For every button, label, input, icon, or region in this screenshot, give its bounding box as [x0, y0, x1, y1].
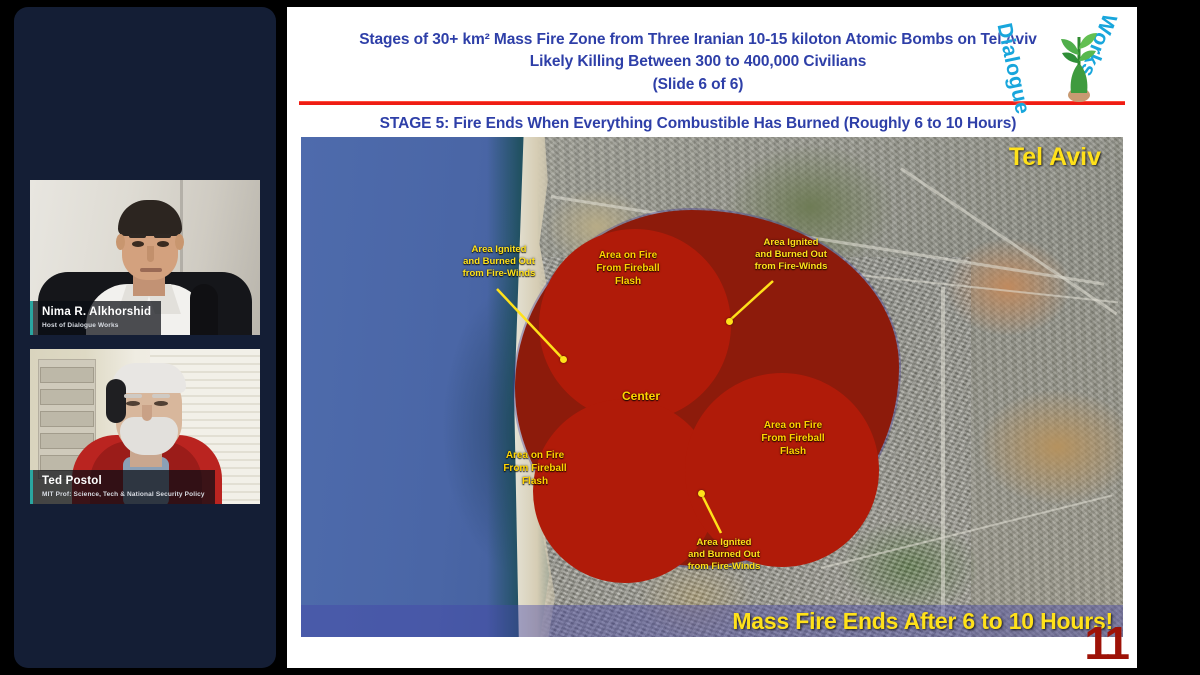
- slide-title-line-2: Likely Killing Between 300 to 400,000 Ci…: [301, 51, 1095, 73]
- eyebrow-left: [124, 394, 142, 398]
- slide-title-line-3: (Slide 6 of 6): [301, 74, 1095, 96]
- satellite-map[interactable]: Area Ignited and Burned Out from Fire-Wi…: [301, 137, 1123, 637]
- title-divider: [299, 101, 1125, 105]
- beard: [120, 417, 178, 455]
- presentation-slide[interactable]: Stages of 30+ km² Mass Fire Zone from Th…: [287, 7, 1137, 668]
- drawer: [40, 411, 94, 427]
- participant-name: Ted Postol: [42, 475, 205, 488]
- eyebrow-left: [129, 234, 146, 238]
- video-tile-nima[interactable]: Nima R. Alkhorshid Host of Dialogue Work…: [30, 180, 260, 335]
- leader-dot: [698, 490, 705, 497]
- slide-stage-heading: STAGE 5: Fire Ends When Everything Combu…: [287, 115, 1137, 133]
- video-tile-ted[interactable]: Ted Postol MIT Prof: Science, Tech & Nat…: [30, 349, 260, 504]
- sprout-icon: [1057, 27, 1101, 103]
- nameplate-nima: Nima R. Alkhorshid Host of Dialogue Work…: [30, 301, 161, 335]
- slide-page-number: 11: [1084, 620, 1127, 666]
- nose: [147, 246, 154, 262]
- eyebrow-right: [154, 234, 171, 238]
- drawer: [40, 389, 94, 405]
- participant-name: Nima R. Alkhorshid: [42, 306, 151, 319]
- ear-left: [116, 234, 125, 250]
- eye-left: [132, 241, 144, 247]
- leader-dot: [560, 356, 567, 363]
- participant-role: MIT Prof: Science, Tech & National Secur…: [42, 491, 205, 498]
- eye-left: [126, 401, 140, 406]
- screen-root: Nima R. Alkhorshid Host of Dialogue Work…: [0, 0, 1200, 675]
- dialogue-works-logo[interactable]: Dialogue Works: [1013, 13, 1131, 123]
- participant-panel: Nima R. Alkhorshid Host of Dialogue Work…: [14, 7, 276, 668]
- eye-right: [154, 401, 168, 406]
- mouth: [140, 268, 162, 272]
- drawer: [40, 367, 94, 383]
- city-label-tel-aviv: Tel Aviv: [1009, 143, 1101, 172]
- eyebrow-right: [152, 394, 170, 398]
- nose: [142, 405, 152, 421]
- road: [941, 287, 945, 617]
- eye-right: [157, 241, 169, 247]
- nameplate-ted: Ted Postol MIT Prof: Science, Tech & Nat…: [30, 470, 215, 504]
- participant-role: Host of Dialogue Works: [42, 322, 151, 329]
- bottom-callout-text: Mass Fire Ends After 6 to 10 Hours!: [732, 608, 1113, 635]
- microphone: [190, 284, 218, 335]
- fireball-flash-zone-east: [685, 373, 879, 567]
- fireball-flash-zone-north: [539, 229, 731, 421]
- ear-right: [175, 234, 184, 250]
- headset-icon: [106, 379, 126, 423]
- leader-dot: [726, 318, 733, 325]
- slide-title-line-1: Stages of 30+ km² Mass Fire Zone from Th…: [301, 29, 1095, 51]
